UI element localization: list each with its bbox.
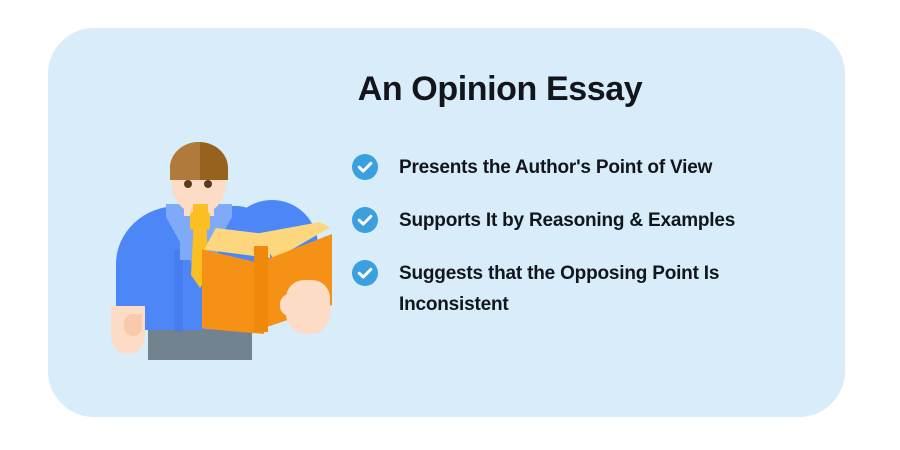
- infographic-card-stage: An Opinion Essay: [0, 0, 900, 450]
- book-spine-shape: [254, 246, 268, 332]
- list-item-label: Presents the Author's Point of View: [399, 152, 712, 183]
- man-reading-book-illustration: [108, 138, 320, 366]
- check-circle-icon: [352, 154, 378, 180]
- list-item: Supports It by Reasoning & Examples: [352, 205, 822, 236]
- list-item-label: Supports It by Reasoning & Examples: [399, 205, 735, 236]
- bullet-list: Presents the Author's Point of View Supp…: [352, 152, 822, 342]
- hair-highlight-shape: [170, 142, 200, 180]
- list-item-label: Suggests that the Opposing Point Is Inco…: [399, 258, 799, 320]
- list-item: Suggests that the Opposing Point Is Inco…: [352, 258, 822, 320]
- check-circle-icon: [352, 260, 378, 286]
- check-circle-icon: [352, 207, 378, 233]
- right-eye-shape: [204, 180, 212, 188]
- left-thumb-shape: [124, 314, 142, 336]
- left-eye-shape: [184, 180, 192, 188]
- sleeve-seam-shape: [174, 250, 183, 332]
- tie-knot-shape: [190, 212, 210, 230]
- list-item: Presents the Author's Point of View: [352, 152, 822, 183]
- right-hand-shape: [286, 280, 330, 334]
- page-title: An Opinion Essay: [200, 70, 800, 109]
